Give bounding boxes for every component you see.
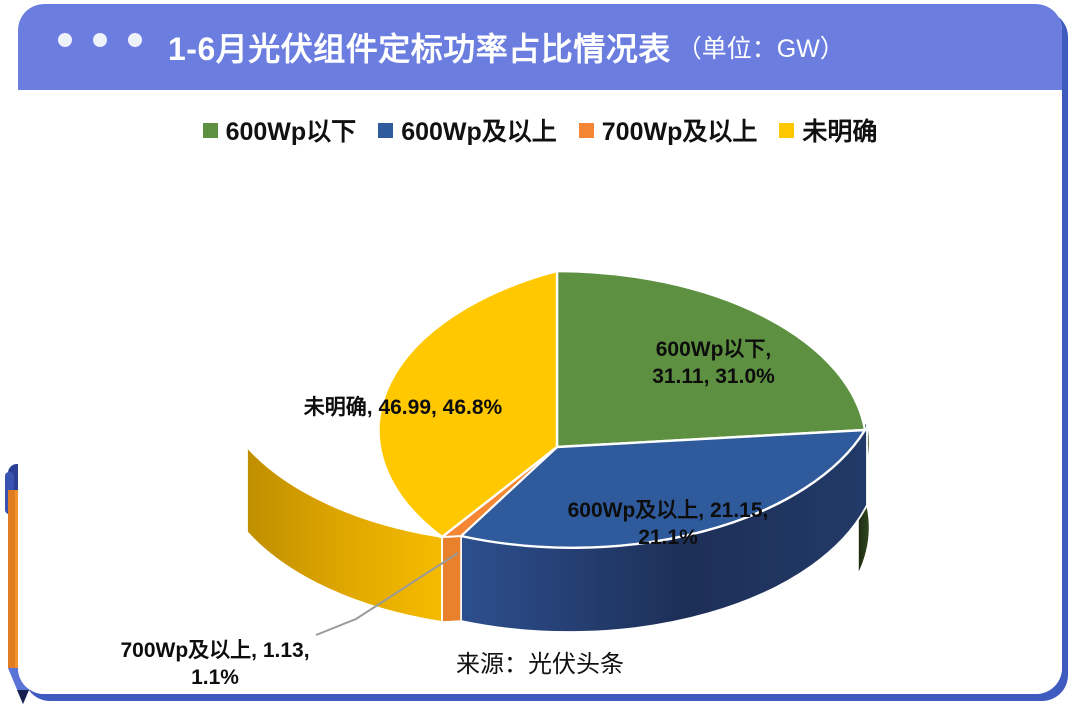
window-dot-1 bbox=[58, 33, 72, 47]
chart-card: 1-6月光伏组件定标功率占比情况表 （单位：GW） 600Wp以下 600Wp及… bbox=[18, 4, 1062, 694]
window-dot-2 bbox=[93, 33, 107, 47]
title-unit: （单位：GW） bbox=[677, 29, 845, 65]
title-wrap: 1-6月光伏组件定标功率占比情况表 （单位：GW） bbox=[168, 4, 845, 90]
card-header: 1-6月光伏组件定标功率占比情况表 （单位：GW） bbox=[18, 4, 1062, 90]
data-label-unspecified: 未明确, 46.99, 46.8% bbox=[258, 395, 548, 422]
window-dots bbox=[58, 33, 142, 47]
window-dot-3 bbox=[128, 33, 142, 47]
chart-body: 600Wp以下 600Wp及以上 700Wp及以上 未明确 bbox=[18, 90, 1062, 694]
data-label-600wp-above: 600Wp及以上, 21.15, 21.1% bbox=[518, 498, 818, 552]
pie-svg bbox=[18, 90, 1062, 694]
data-label-600wp-below: 600Wp以下, 31.11, 31.0% bbox=[596, 337, 831, 391]
pie-chart: 600Wp以下, 31.11, 31.0% 600Wp及以上, 21.15, 2… bbox=[18, 90, 1062, 694]
page-title: 1-6月光伏组件定标功率占比情况表 bbox=[168, 24, 671, 70]
pie-side-orange bbox=[442, 536, 461, 622]
screenshot-root: 1-6月光伏组件定标功率占比情况表 （单位：GW） 600Wp以下 600Wp及… bbox=[0, 0, 1080, 704]
source-note: 来源：光伏头条 bbox=[18, 644, 1062, 679]
